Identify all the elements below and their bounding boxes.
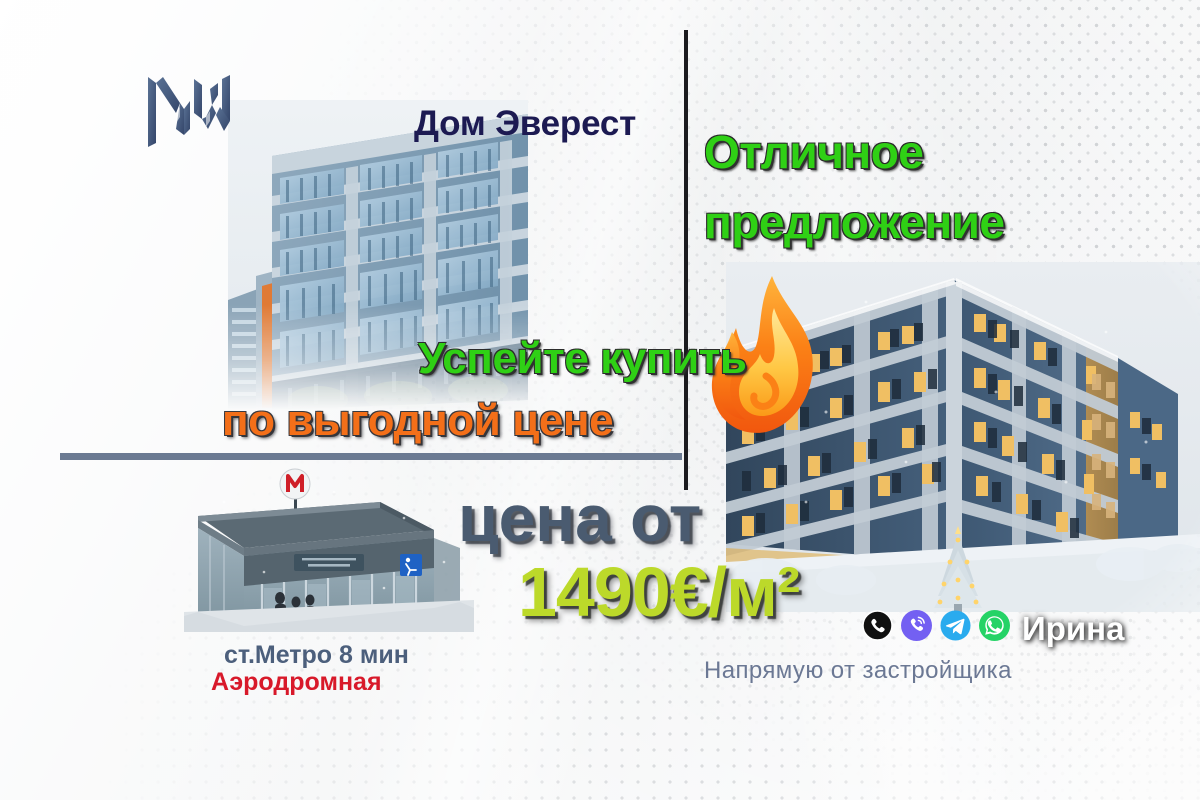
vertical-divider-line bbox=[684, 30, 688, 490]
metro-station-photo bbox=[184, 462, 474, 632]
offer-headline-line-2: предложение bbox=[704, 195, 1005, 249]
phone-icon[interactable] bbox=[862, 610, 893, 641]
cta-line-good-price: по выгодной цене bbox=[222, 396, 613, 446]
metro-walking-time: ст.Метро 8 мин bbox=[224, 641, 409, 670]
cta-line-buy-now: Успейте купить bbox=[418, 334, 747, 384]
accessibility-sign bbox=[400, 554, 422, 576]
page-title-house-name: Дом Эверест bbox=[414, 104, 636, 144]
whatsapp-icon[interactable] bbox=[979, 610, 1010, 641]
horizontal-divider-line bbox=[60, 453, 682, 460]
agent-name: Ирина bbox=[1022, 610, 1124, 648]
offer-headline-line-1: Отличное bbox=[704, 125, 923, 179]
contact-icons-row bbox=[862, 610, 1010, 641]
viber-icon[interactable] bbox=[901, 610, 932, 641]
telegram-icon[interactable] bbox=[940, 610, 971, 641]
price-value: 1490€/м² bbox=[518, 552, 799, 632]
price-label: цена от bbox=[458, 480, 701, 556]
metro-station-name: Аэродромная bbox=[211, 668, 382, 697]
mw-monogram-logo bbox=[146, 73, 242, 151]
real-estate-advertisement-banner: Дом Эверест Отличное предложение Успейте… bbox=[0, 0, 1200, 800]
developer-direct-note: Напрямую от застройщика bbox=[704, 657, 1012, 685]
